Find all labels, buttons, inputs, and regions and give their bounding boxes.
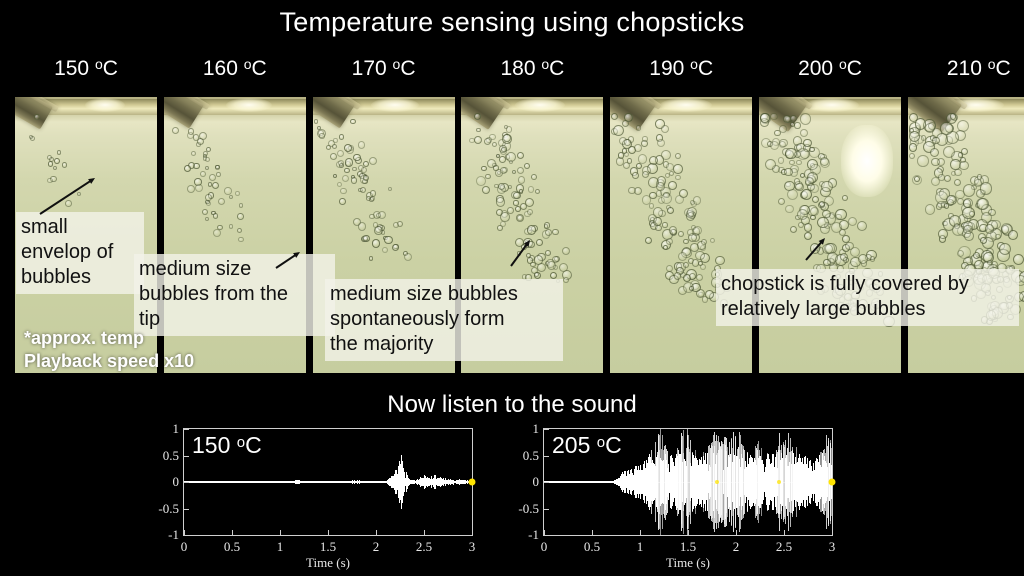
bubble [206, 201, 212, 207]
filmstrip-frame-210 [908, 97, 1024, 373]
filmstrip-frame-190 [610, 97, 752, 373]
bubble [57, 150, 62, 155]
x-tick-mark [736, 530, 737, 535]
bubble [661, 125, 669, 133]
bubble [213, 213, 218, 218]
bubble [358, 141, 366, 149]
bubble [382, 247, 388, 253]
bubble [930, 148, 939, 157]
y-tick-label: -1 [528, 527, 539, 543]
degree-celsius-unit: o [541, 56, 549, 72]
bubble [778, 157, 785, 164]
bubble [502, 134, 512, 144]
bubble [787, 189, 798, 200]
bubble [690, 243, 699, 252]
bubble [657, 139, 665, 147]
bubble [985, 224, 995, 234]
bubble [482, 186, 490, 194]
bubble [656, 182, 665, 191]
page-title: Temperature sensing using chopsticks [0, 6, 1024, 38]
bubble [803, 139, 811, 147]
bubble [957, 250, 964, 257]
bubble [172, 127, 179, 134]
bubble [628, 187, 636, 195]
y-tick-mark [184, 429, 189, 430]
temperature-value: 210 [947, 57, 988, 80]
bubble [372, 239, 380, 247]
y-tick-mark [544, 509, 549, 510]
bubble [496, 197, 505, 206]
bubble [785, 205, 793, 213]
bubble [378, 211, 386, 219]
temperature-value: 200 [798, 57, 839, 80]
bubble [810, 164, 820, 174]
bubble [545, 229, 552, 236]
bubble [191, 151, 196, 156]
x-tick-label: 0.5 [224, 539, 240, 555]
waveform-plot-150c: 150 oC-1-0.500.5100.511.522.53Time (s) [183, 428, 473, 536]
bubble [940, 122, 952, 134]
bubble [642, 171, 650, 179]
bubble [648, 214, 657, 223]
temperature-label-200: 200 oC [759, 56, 901, 81]
bubble [679, 189, 689, 199]
bubble [857, 221, 867, 231]
bubble [870, 256, 875, 261]
bubble [821, 181, 832, 192]
bubble [785, 148, 796, 159]
bubble [611, 113, 618, 120]
bubble [515, 206, 521, 212]
bubble [700, 264, 706, 270]
temperature-value: 170 [352, 57, 393, 80]
bubble [938, 229, 947, 238]
bubble [645, 237, 652, 244]
x-axis-label: Time (s) [184, 555, 472, 571]
bubble [980, 182, 992, 194]
note-playback-speed: Playback speed x10 [24, 350, 194, 373]
y-tick-label: 1 [533, 421, 540, 437]
x-tick-mark [232, 530, 233, 535]
x-tick-label: 2.5 [776, 539, 792, 555]
bubble [203, 151, 208, 156]
bubble [492, 142, 497, 147]
y-tick-mark [544, 535, 549, 536]
bubble [527, 209, 533, 215]
bubble [330, 153, 337, 160]
bubble [229, 224, 233, 228]
bubble [237, 213, 244, 220]
bubble [702, 296, 708, 302]
celsius-letter: C [103, 57, 118, 80]
bubble [184, 165, 191, 172]
bubble [931, 158, 939, 166]
x-tick-mark [544, 530, 545, 535]
bubble [374, 226, 383, 235]
bubble [353, 154, 361, 162]
bubble [790, 226, 797, 233]
temperature-value: 160 [203, 57, 244, 80]
bubble [559, 263, 568, 272]
bubble [662, 222, 667, 227]
bubble [668, 181, 677, 190]
bubble [520, 203, 527, 210]
bubble [987, 260, 993, 266]
bubble [404, 253, 412, 261]
arrow-medium-majority [503, 232, 538, 274]
bubble [345, 158, 354, 167]
plot-temperature-value: 205 [552, 432, 597, 458]
bubble [840, 253, 848, 261]
bubble [928, 122, 936, 130]
y-tick-mark [184, 509, 189, 510]
bubble [205, 166, 210, 171]
sound-section-title: Now listen to the sound [0, 391, 1024, 419]
x-tick-label: 0.5 [584, 539, 600, 555]
bubble [977, 174, 983, 180]
bubble [692, 259, 699, 266]
bubble [205, 157, 210, 162]
bubble [810, 184, 818, 192]
bubble [337, 182, 342, 187]
annotation-medium-majority: medium size bubbles spontaneously form t… [325, 279, 563, 361]
bubble [962, 207, 975, 220]
playback-cursor[interactable] [469, 479, 476, 486]
x-tick-label: 3 [829, 539, 836, 555]
y-tick-mark [184, 456, 189, 457]
bubble [999, 243, 1011, 255]
bubble [474, 113, 481, 120]
bubble [205, 217, 209, 221]
x-tick-mark [640, 530, 641, 535]
bubble [237, 228, 242, 233]
bubble [995, 234, 1000, 239]
bubble [48, 161, 53, 166]
x-tick-mark [328, 530, 329, 535]
arrow-medium-from-tip [268, 244, 308, 276]
bubble [474, 136, 483, 145]
celsius-letter: C [252, 57, 267, 80]
bubble [683, 262, 689, 268]
bubble [34, 114, 40, 120]
annotation-fully-covered: chopstick is fully covered by relatively… [716, 269, 1019, 326]
bubble [333, 174, 337, 178]
bubble [632, 172, 639, 179]
bubble [563, 277, 569, 283]
bubble-field [610, 97, 752, 373]
x-tick-label: 2.5 [416, 539, 432, 555]
y-tick-mark [184, 535, 189, 536]
plot-degree-unit: o [597, 434, 605, 451]
bubble [369, 157, 377, 165]
y-tick-label: 0 [533, 474, 540, 490]
bubble [485, 174, 490, 179]
bubble [909, 153, 916, 160]
arrow-fully-covered [798, 230, 833, 268]
bubble [363, 161, 369, 167]
x-tick-mark [280, 530, 281, 535]
bubble [314, 119, 319, 124]
bubble [216, 172, 221, 177]
bubble [342, 175, 350, 183]
bubble [339, 198, 345, 204]
plot-degree-unit: o [237, 434, 245, 451]
playback-cursor[interactable] [829, 479, 836, 486]
x-tick-label: 1 [637, 539, 644, 555]
bubble [499, 156, 506, 163]
bubble [339, 134, 345, 140]
bubble [696, 274, 703, 281]
bubble [200, 171, 206, 177]
bubble [667, 207, 674, 214]
bubble [552, 229, 558, 235]
x-tick-mark [784, 530, 785, 535]
bubble [661, 193, 672, 204]
temperature-value: 190 [649, 57, 690, 80]
bubble [369, 256, 373, 260]
bubble [800, 129, 808, 137]
bubble [1013, 254, 1024, 265]
bubble [954, 179, 961, 186]
x-tick-label: 2 [373, 539, 380, 555]
celsius-letter: C [698, 57, 713, 80]
bubble [649, 192, 656, 199]
degree-celsius-unit: o [95, 56, 103, 72]
bubble [195, 184, 203, 192]
temperature-label-210: 210 oC [908, 56, 1024, 81]
bubble [613, 125, 624, 136]
celsius-letter: C [549, 57, 564, 80]
bubble [1001, 223, 1013, 235]
bubble [678, 252, 687, 261]
bubble [212, 182, 220, 190]
y-tick-label: 0.5 [163, 448, 179, 464]
bubble [917, 155, 929, 167]
y-tick-label: 1 [173, 421, 180, 437]
bubble [350, 119, 356, 125]
bubble [770, 141, 780, 151]
bubble [332, 144, 337, 149]
bubble [353, 218, 361, 226]
bubble [562, 247, 571, 256]
bubble [547, 261, 556, 270]
bubble [669, 226, 678, 235]
bubble [54, 158, 60, 164]
bubble [819, 201, 825, 207]
bubble [340, 188, 347, 195]
y-tick-label: -0.5 [518, 501, 539, 517]
bubble [476, 176, 486, 186]
bubble [197, 138, 204, 145]
bubble [673, 164, 683, 174]
bubble [238, 237, 243, 242]
bubble [944, 175, 951, 182]
bubble [319, 133, 324, 138]
bubble [810, 215, 816, 221]
plot-temperature-value: 150 [192, 432, 237, 458]
y-tick-mark [544, 456, 549, 457]
temperature-value: 180 [500, 57, 541, 80]
bubble [678, 231, 684, 237]
bubble [689, 273, 696, 280]
bubble [481, 166, 487, 172]
celsius-letter: C [847, 57, 862, 80]
x-tick-mark [472, 530, 473, 535]
bubble [500, 167, 507, 174]
bubble [946, 195, 956, 205]
x-tick-label: 3 [469, 539, 476, 555]
bubble [209, 174, 216, 181]
bubble [770, 113, 777, 120]
x-axis-label: Time (s) [544, 555, 832, 571]
y-tick-mark [544, 429, 549, 430]
y-tick-label: -0.5 [158, 501, 179, 517]
arrow-small-envelop [32, 170, 103, 222]
bubble [213, 229, 221, 237]
bubble [370, 196, 374, 200]
bubble [963, 225, 972, 234]
bubble [624, 152, 630, 158]
bubble [362, 235, 369, 242]
bubble [636, 163, 642, 169]
temperature-label-160: 160 oC [164, 56, 306, 81]
bubble [669, 171, 674, 176]
bubble [774, 130, 781, 137]
bubble [501, 147, 506, 152]
bubble [509, 160, 513, 164]
bubble [636, 125, 642, 131]
bubble [187, 185, 195, 193]
bubble [675, 153, 681, 159]
temperature-label-150: 150 oC [15, 56, 157, 81]
bubble [760, 113, 770, 123]
bubble [239, 203, 244, 208]
bubble [519, 189, 523, 193]
bubble [848, 217, 857, 226]
bubble [627, 158, 632, 163]
bubble [392, 244, 399, 251]
bubble [517, 152, 524, 159]
bubble [624, 113, 633, 122]
bubble [634, 144, 642, 152]
bubble [352, 167, 356, 171]
temperature-value: 150 [54, 57, 95, 80]
bubble [528, 186, 535, 193]
bubble [800, 113, 812, 125]
bubble [215, 165, 220, 170]
bubble [361, 167, 367, 173]
bubble [977, 198, 989, 210]
bubble [535, 189, 541, 195]
bubble [512, 170, 516, 174]
celsius-letter: C [400, 57, 415, 80]
temperature-label-180: 180 oC [461, 56, 603, 81]
bubble [642, 136, 647, 141]
bubble [229, 195, 233, 199]
bubble [932, 137, 940, 145]
bubble [951, 171, 956, 176]
cursor-trail-dot [777, 480, 781, 484]
bubble [344, 168, 349, 173]
temperature-label-190: 190 oC [610, 56, 752, 81]
y-tick-label: 0 [173, 474, 180, 490]
bubble [337, 150, 344, 157]
bubble [925, 204, 936, 215]
bubble [224, 187, 231, 194]
bubble [959, 161, 969, 171]
cursor-trail-dot [715, 480, 719, 484]
bubble [973, 252, 980, 259]
bubble [909, 143, 917, 151]
bubble [500, 212, 510, 222]
y-tick-mark [544, 482, 549, 483]
x-tick-mark [184, 530, 185, 535]
bubble [524, 163, 530, 169]
bubble [961, 148, 968, 155]
bubble [797, 148, 809, 160]
bubble [710, 238, 715, 243]
bubble [531, 174, 537, 180]
bubble [218, 198, 226, 206]
plot-title: 205 oC [552, 432, 622, 459]
bubble [202, 209, 208, 215]
bubble [842, 235, 850, 243]
slide-root: Temperature sensing using chopsticks 150… [0, 0, 1024, 576]
bubble [914, 176, 920, 182]
bubble [963, 184, 975, 196]
degree-celsius-unit: o [244, 56, 252, 72]
bubble [489, 134, 496, 141]
plot-title: 150 oC [192, 432, 262, 459]
bubble [794, 122, 800, 128]
x-tick-label: 1 [277, 539, 284, 555]
plot-celsius-letter: C [245, 432, 262, 458]
y-tick-label: 0.5 [523, 448, 539, 464]
y-tick-label: -1 [168, 527, 179, 543]
x-tick-mark [688, 530, 689, 535]
y-tick-mark [184, 482, 189, 483]
celsius-letter: C [996, 57, 1011, 80]
bubble [476, 128, 481, 133]
bubble [517, 167, 524, 174]
x-tick-mark [832, 530, 833, 535]
x-tick-mark [376, 530, 377, 535]
bubble [809, 147, 814, 152]
bubble [701, 239, 707, 245]
bubble [715, 256, 724, 265]
x-tick-label: 1.5 [320, 539, 336, 555]
bubble [208, 182, 213, 187]
bubble [674, 272, 681, 279]
bubble [545, 250, 551, 256]
plot-celsius-letter: C [605, 432, 622, 458]
bubble [513, 200, 518, 205]
x-tick-label: 2 [733, 539, 740, 555]
bubble [360, 187, 366, 193]
x-tick-label: 0 [181, 539, 188, 555]
bubble-field [908, 97, 1024, 373]
degree-celsius-unit: o [988, 56, 996, 72]
degree-celsius-unit: o [839, 56, 847, 72]
bubble [693, 226, 702, 235]
x-tick-mark [592, 530, 593, 535]
bubble [504, 125, 508, 129]
bubble [333, 138, 337, 142]
annotation-small-envelop: small envelop of bubbles [16, 212, 144, 294]
bubble [517, 215, 523, 221]
x-tick-label: 1.5 [680, 539, 696, 555]
bubble [812, 196, 819, 203]
